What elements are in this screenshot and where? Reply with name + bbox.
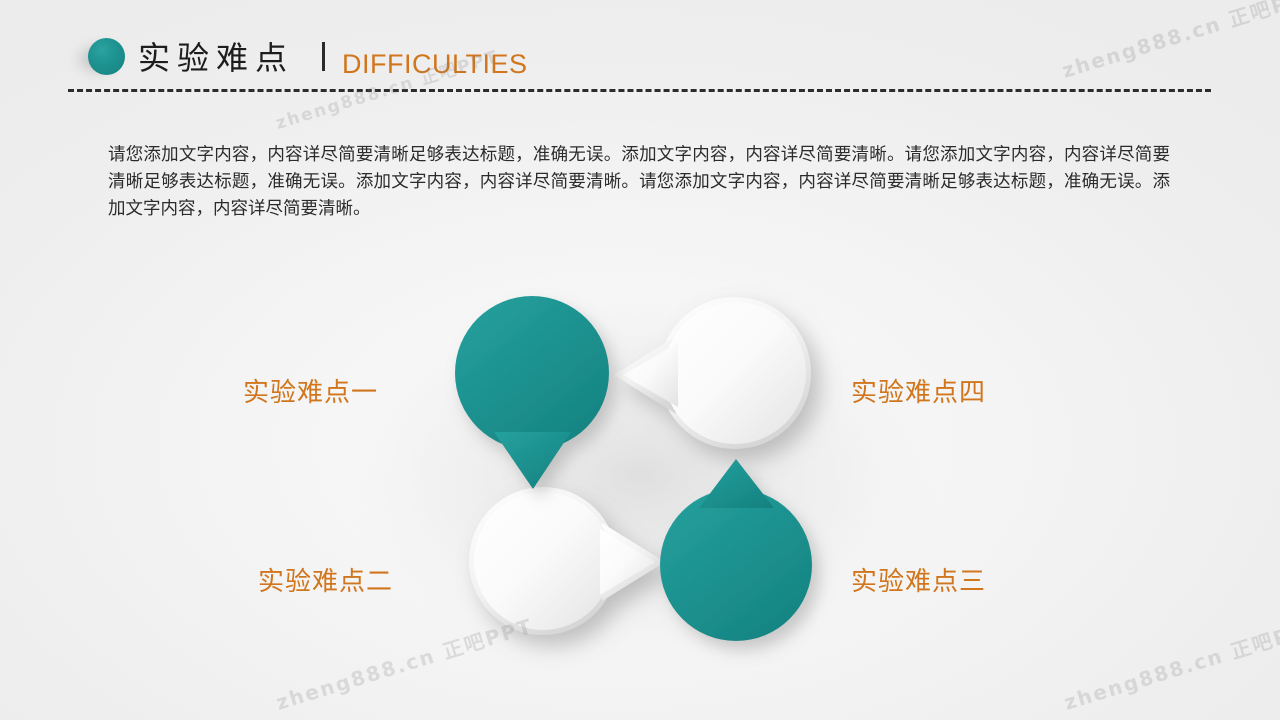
bubble-diagram xyxy=(0,0,1280,720)
slide-canvas: 实验难点 DIFFICULTIES 请您添加文字内容，内容详尽简要清晰足够表达标… xyxy=(0,0,1280,720)
bubble-label-one: 实验难点一 xyxy=(243,372,378,409)
bubble-label-three: 实验难点三 xyxy=(851,561,986,598)
bubble-label-four: 实验难点四 xyxy=(851,372,986,409)
diagram-ambient-shadow xyxy=(340,285,940,665)
bubble-label-two: 实验难点二 xyxy=(258,561,393,598)
